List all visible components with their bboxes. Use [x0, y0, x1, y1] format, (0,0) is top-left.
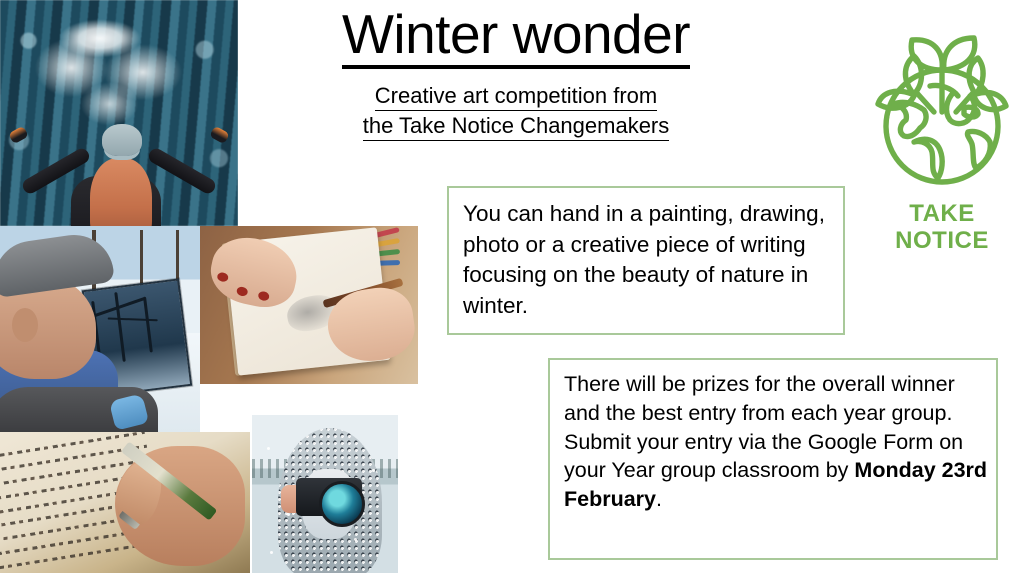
photo-sketchbook	[200, 226, 418, 384]
photo-handwriting	[0, 432, 250, 573]
logo-wordmark: TAKE NOTICE	[866, 200, 1018, 255]
subtitle-line-2: the Take Notice Changemakers	[363, 111, 670, 141]
title-block: Winter wonder Creative art competition f…	[296, 6, 736, 141]
photo-snow-throw	[0, 0, 238, 226]
poster-subtitle: Creative art competition from the Take N…	[296, 81, 736, 141]
logo-wordmark-line-1: TAKE	[866, 200, 1018, 227]
info-box-prizes: There will be prizes for the overall win…	[548, 358, 998, 560]
logo-wordmark-line-2: NOTICE	[866, 227, 1018, 254]
subtitle-line-1: Creative art competition from	[375, 81, 657, 111]
knit-hat	[102, 124, 142, 156]
long-hair	[90, 158, 152, 226]
photo-painter	[0, 226, 200, 432]
info-box-entries: You can hand in a painting, drawing, pho…	[447, 186, 845, 335]
page-title: Winter wonder	[342, 6, 690, 69]
prizes-text-end: .	[656, 487, 662, 511]
globe-with-sprout-icon	[872, 8, 1012, 196]
winter-wonder-poster: Winter wonder Creative art competition f…	[0, 0, 1024, 573]
take-notice-logo: TAKE NOTICE	[866, 8, 1018, 263]
entries-text: You can hand in a painting, drawing, pho…	[463, 201, 825, 318]
photo-photographer	[252, 415, 398, 573]
